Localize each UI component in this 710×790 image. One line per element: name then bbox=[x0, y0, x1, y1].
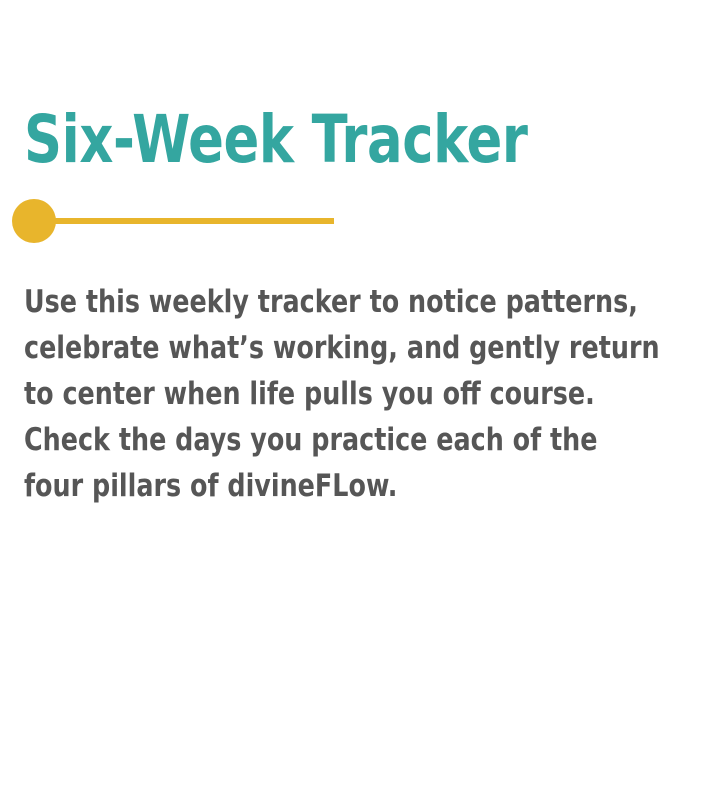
divider-rule bbox=[46, 218, 334, 224]
page-title: Six-Week Tracker bbox=[24, 101, 528, 179]
paragraph-line: celebrate what’s working, and gently ret… bbox=[24, 325, 565, 371]
page-canvas: Six-Week Tracker Use this weekly tracker… bbox=[0, 0, 710, 790]
divider bbox=[12, 199, 334, 243]
paragraph-line: to center when life pulls you off course… bbox=[24, 371, 565, 417]
paragraph-line: Check the days you practice each of the bbox=[24, 417, 565, 463]
intro-paragraph: Use this weekly tracker to notice patter… bbox=[24, 279, 684, 509]
paragraph-line: Use this weekly tracker to notice patter… bbox=[24, 279, 565, 325]
paragraph-line: four pillars of divineFLow. bbox=[24, 463, 565, 509]
